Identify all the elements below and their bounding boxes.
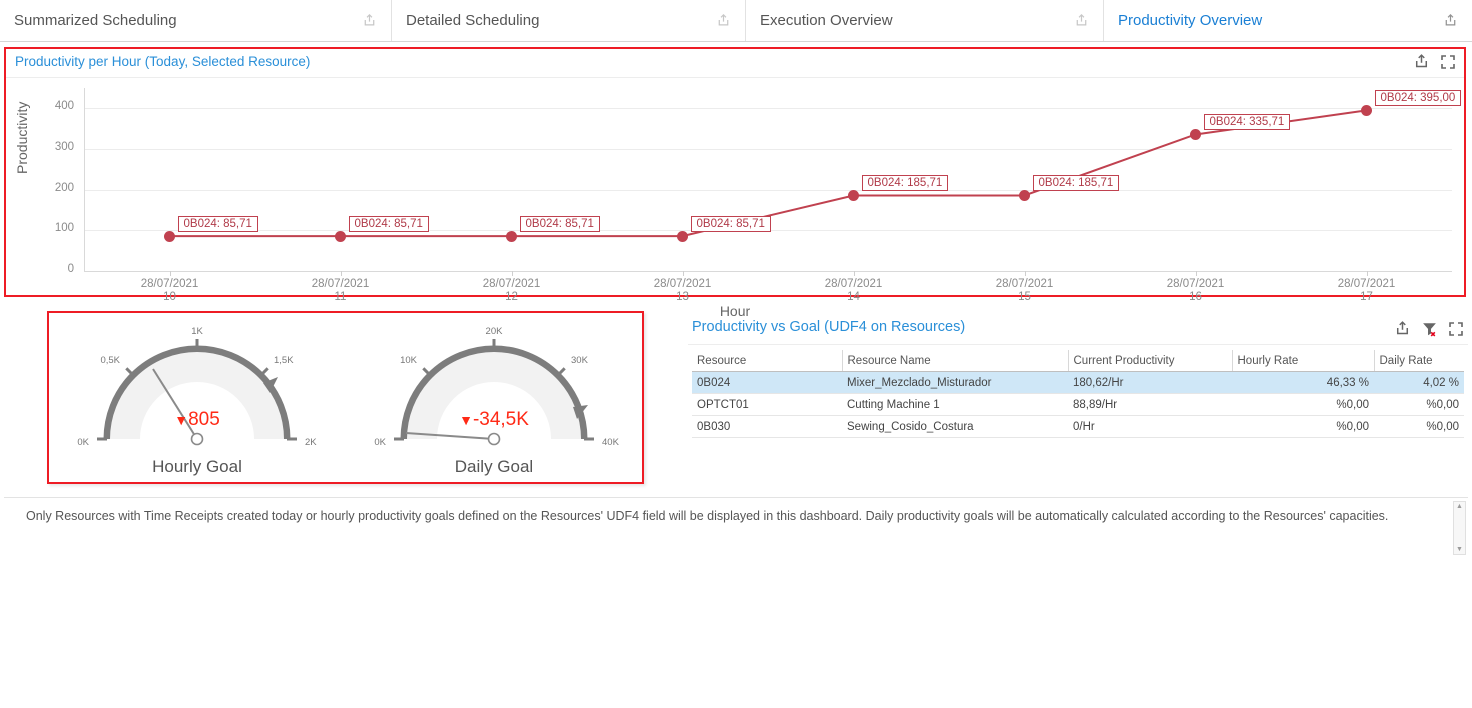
data-point[interactable] (677, 231, 688, 242)
goal-gauges-panel: 0K 2K 0,5K 1K 1,5K ▼805 Hourly Goal (47, 311, 644, 484)
fullscreen-icon[interactable] (1440, 54, 1456, 70)
chart-title: Productivity per Hour (Today, Selected R… (15, 54, 310, 69)
x-tick-mark (341, 271, 342, 276)
table-cell: %0,00 (1374, 394, 1464, 416)
x-tick-mark (170, 271, 171, 276)
data-point-label: 0B024: 85,71 (178, 216, 258, 232)
data-point[interactable] (335, 231, 346, 242)
export-icon[interactable] (1443, 13, 1458, 28)
data-point[interactable] (506, 231, 517, 242)
x-tick-date: 28/07/2021 (312, 278, 370, 290)
x-tick-label: 28/07/202110 (110, 278, 230, 304)
table-cell: Sewing_Cosido_Costura (842, 416, 1068, 438)
tab-summarized-scheduling[interactable]: Summarized Scheduling (0, 0, 392, 41)
table-row[interactable]: 0B024Mixer_Mezclado_Misturador180,62/Hr4… (692, 372, 1464, 394)
gauge-value-hourly: ▼805 (57, 409, 337, 431)
table-body: 0B024Mixer_Mezclado_Misturador180,62/Hr4… (692, 372, 1464, 438)
table-cell: %0,00 (1374, 416, 1464, 438)
gauge-min-label: 0K (374, 437, 386, 448)
gauge-daily-goal[interactable]: 0K 40K 10K 20K 30K ▼-34,5K Daily Goal (354, 321, 634, 481)
gauge-max-label: 2K (305, 437, 317, 448)
gauge-tick-label: 20K (486, 326, 504, 337)
gauge-value-text: -34,5K (473, 409, 529, 430)
table-cell: Cutting Machine 1 (842, 394, 1068, 416)
tab-bar: Summarized Scheduling Detailed Schedulin… (0, 0, 1472, 42)
down-triangle-icon: ▼ (174, 412, 188, 428)
tab-detailed-scheduling[interactable]: Detailed Scheduling (392, 0, 746, 41)
table-panel-header: Productivity vs Goal (UDF4 on Resources) (688, 316, 1468, 345)
table-row[interactable]: OPTCT01Cutting Machine 188,89/Hr%0,00%0,… (692, 394, 1464, 416)
table-panel-tools (1394, 320, 1464, 337)
gauge-tick-label: 1,5K (274, 355, 294, 366)
table-cell: 46,33 % (1232, 372, 1374, 394)
data-point-label: 0B024: 335,71 (1204, 114, 1291, 130)
tab-productivity-overview[interactable]: Productivity Overview (1104, 0, 1472, 41)
note-scrollbar[interactable]: ▲ ▼ (1453, 501, 1466, 555)
x-tick-date: 28/07/2021 (141, 278, 199, 290)
column-header-resource-name[interactable]: Resource Name (842, 350, 1068, 372)
export-icon[interactable] (1074, 13, 1089, 28)
tab-label: Summarized Scheduling (14, 12, 177, 29)
x-tick-date: 28/07/2021 (996, 278, 1054, 290)
series-line (6, 78, 1464, 295)
column-header-current-productivity[interactable]: Current Productivity (1068, 350, 1232, 372)
column-header-hourly-rate[interactable]: Hourly Rate (1232, 350, 1374, 372)
x-tick-hour: 13 (676, 291, 689, 303)
x-tick-date: 28/07/2021 (825, 278, 883, 290)
table-row[interactable]: 0B030Sewing_Cosido_Costura0/Hr%0,00%0,00 (692, 416, 1464, 438)
gauge-value-text: 805 (188, 409, 220, 430)
column-header-resource[interactable]: Resource (692, 350, 842, 372)
table-cell: 88,89/Hr (1068, 394, 1232, 416)
column-header-daily-rate[interactable]: Daily Rate (1374, 350, 1464, 372)
x-tick-mark (512, 271, 513, 276)
x-tick-hour: 17 (1360, 291, 1373, 303)
x-tick-hour: 12 (505, 291, 518, 303)
data-point-label: 0B024: 395,00 (1375, 90, 1462, 106)
data-point-label: 0B024: 185,71 (862, 175, 949, 191)
gauge-caption-daily: Daily Goal (354, 457, 634, 477)
tab-label: Execution Overview (760, 12, 893, 29)
tab-execution-overview[interactable]: Execution Overview (746, 0, 1104, 41)
x-tick-label: 28/07/202117 (1307, 278, 1427, 304)
table-cell: 4,02 % (1374, 372, 1464, 394)
productivity-vs-goal-panel: Productivity vs Goal (UDF4 on Resources) (688, 316, 1468, 486)
x-tick-mark (683, 271, 684, 276)
x-tick-mark (854, 271, 855, 276)
data-point[interactable] (164, 231, 175, 242)
note-text: Only Resources with Time Receipts create… (26, 506, 1416, 527)
export-icon[interactable] (1394, 320, 1411, 337)
export-icon[interactable] (1413, 53, 1430, 70)
gauge-tick-label: 1K (191, 326, 203, 337)
x-tick-label: 28/07/202116 (1136, 278, 1256, 304)
tab-label: Detailed Scheduling (406, 12, 539, 29)
x-tick-date: 28/07/2021 (654, 278, 712, 290)
x-tick-date: 28/07/2021 (1167, 278, 1225, 290)
x-tick-mark (1196, 271, 1197, 276)
gauge-hourly-goal[interactable]: 0K 2K 0,5K 1K 1,5K ▼805 Hourly Goal (57, 321, 337, 481)
gauge-tick-label: 30K (571, 355, 589, 366)
table-cell: OPTCT01 (692, 394, 842, 416)
data-point[interactable] (848, 190, 859, 201)
data-point-label: 0B024: 185,71 (1033, 175, 1120, 191)
productivity-overview-dashboard: Summarized Scheduling Detailed Schedulin… (0, 0, 1472, 559)
x-tick-mark (1025, 271, 1026, 276)
x-tick-label: 28/07/202113 (623, 278, 743, 304)
x-tick-hour: 10 (163, 291, 176, 303)
data-point-label: 0B024: 85,71 (691, 216, 771, 232)
gauge-min-label: 0K (77, 437, 89, 448)
x-tick-hour: 15 (1018, 291, 1031, 303)
chart-panel-header: Productivity per Hour (Today, Selected R… (6, 49, 1464, 78)
x-tick-mark (1367, 271, 1368, 276)
x-tick-label: 28/07/202111 (281, 278, 401, 304)
gauge-value-daily: ▼-34,5K (354, 409, 634, 431)
fullscreen-icon[interactable] (1448, 321, 1464, 337)
export-icon[interactable] (716, 13, 731, 28)
chart-panel-tools (1413, 53, 1456, 70)
x-tick-date: 28/07/2021 (483, 278, 541, 290)
down-triangle-icon: ▼ (459, 412, 473, 428)
table-cell: 0B030 (692, 416, 842, 438)
x-tick-label: 28/07/202114 (794, 278, 914, 304)
table-title: Productivity vs Goal (UDF4 on Resources) (692, 319, 965, 335)
x-tick-hour: 16 (1189, 291, 1202, 303)
table-cell: %0,00 (1232, 394, 1374, 416)
productivity-per-hour-panel: Productivity per Hour (Today, Selected R… (4, 47, 1466, 297)
scroll-up-icon[interactable]: ▲ (1456, 502, 1463, 511)
table-header-row: Resource Resource Name Current Productiv… (692, 350, 1464, 372)
table-cell: Mixer_Mezclado_Misturador (842, 372, 1068, 394)
data-point-label: 0B024: 85,71 (349, 216, 429, 232)
data-point-label: 0B024: 85,71 (520, 216, 600, 232)
gauge-caption-hourly: Hourly Goal (57, 457, 337, 477)
x-tick-hour: 14 (847, 291, 860, 303)
x-tick-label: 28/07/202115 (965, 278, 1085, 304)
table-cell: %0,00 (1232, 416, 1374, 438)
tab-label: Productivity Overview (1118, 12, 1262, 29)
table-cell: 180,62/Hr (1068, 372, 1232, 394)
data-point[interactable] (1190, 129, 1201, 140)
gauge-tick-label: 0,5K (100, 355, 120, 366)
data-point[interactable] (1361, 105, 1372, 116)
gauge-max-label: 40K (602, 437, 620, 448)
data-point[interactable] (1019, 190, 1030, 201)
dashboard-note: Only Resources with Time Receipts create… (4, 497, 1468, 557)
gauge-tick-label: 10K (400, 355, 418, 366)
x-tick-label: 28/07/202112 (452, 278, 572, 304)
table-cell: 0/Hr (1068, 416, 1232, 438)
x-tick-hour: 11 (335, 291, 347, 303)
resources-table[interactable]: Resource Resource Name Current Productiv… (692, 350, 1464, 438)
export-icon[interactable] (362, 13, 377, 28)
table-cell: 0B024 (692, 372, 842, 394)
x-tick-date: 28/07/2021 (1338, 278, 1396, 290)
scroll-down-icon[interactable]: ▼ (1456, 545, 1463, 554)
clear-filter-icon[interactable] (1421, 320, 1438, 337)
line-chart-plot: Productivity 0100200300400 0B024: 85,710… (6, 78, 1464, 295)
